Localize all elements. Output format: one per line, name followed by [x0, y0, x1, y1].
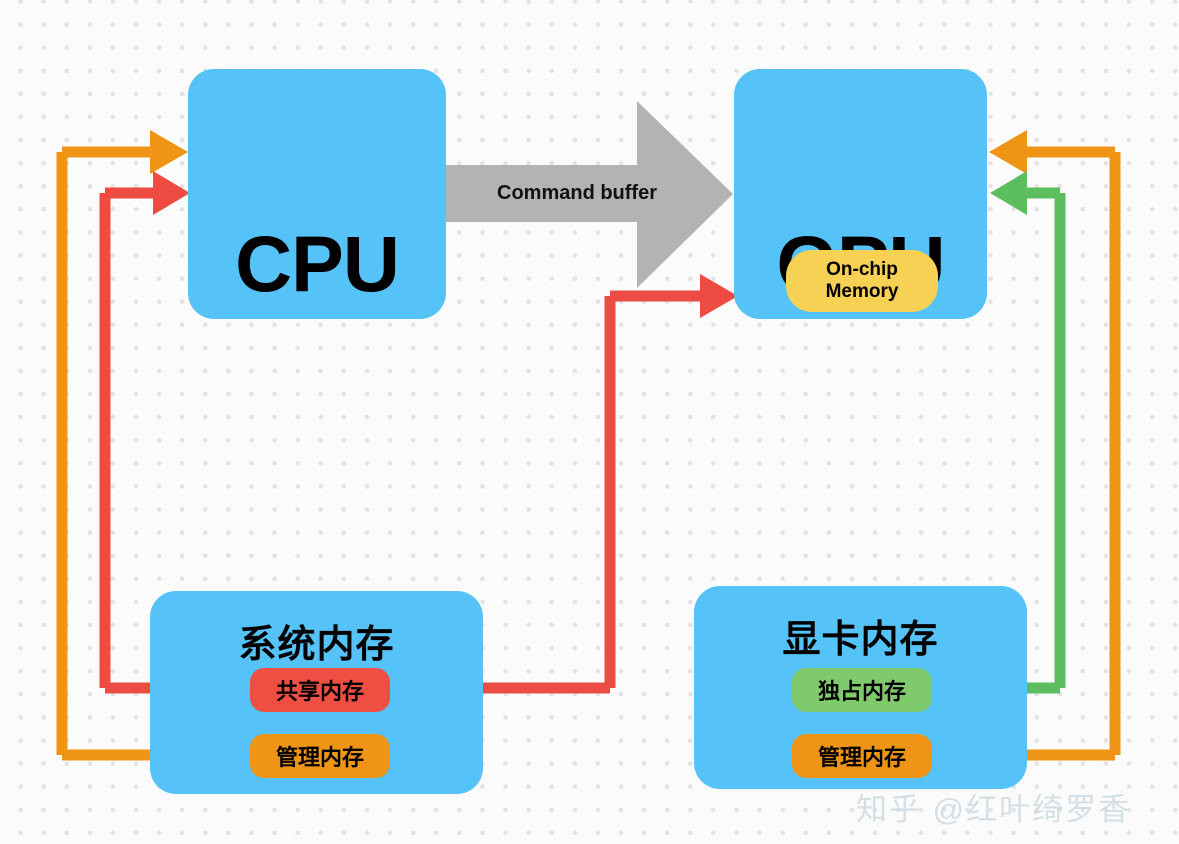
watermark: 知乎 @红叶绮罗香 — [856, 784, 1131, 829]
node-cpu-label: CPU — [188, 224, 446, 303]
command-buffer-label: Command buffer — [487, 182, 667, 205]
node-system-memory-label: 系统内存 — [150, 613, 483, 668]
pill-system-managed-memory-label: 管理内存 — [276, 740, 364, 772]
pill-exclusive-memory[interactable]: 独占内存 — [792, 668, 932, 712]
pill-video-managed-memory-label: 管理内存 — [818, 740, 906, 772]
node-video-memory[interactable]: 显卡内存 独占内存 管理内存 — [694, 586, 1027, 789]
pill-video-managed-memory[interactable]: 管理内存 — [792, 734, 932, 778]
node-cpu[interactable]: CPU — [188, 69, 446, 319]
onchip-label-line1: On-chip — [826, 259, 898, 281]
onchip-label-line2: Memory — [826, 281, 899, 303]
diagram-canvas: CPU GPU On-chip Memory Command buffer 系统… — [0, 0, 1179, 844]
pill-system-managed-memory[interactable]: 管理内存 — [250, 734, 390, 778]
node-gpu[interactable]: GPU On-chip Memory — [734, 69, 987, 319]
node-gpu-onchip-memory[interactable]: On-chip Memory — [786, 250, 938, 312]
pill-shared-memory-label: 共享内存 — [276, 674, 364, 706]
node-system-memory[interactable]: 系统内存 共享内存 管理内存 — [150, 591, 483, 794]
pill-exclusive-memory-label: 独占内存 — [818, 674, 906, 706]
node-video-memory-label: 显卡内存 — [694, 608, 1027, 663]
pill-shared-memory[interactable]: 共享内存 — [250, 668, 390, 712]
